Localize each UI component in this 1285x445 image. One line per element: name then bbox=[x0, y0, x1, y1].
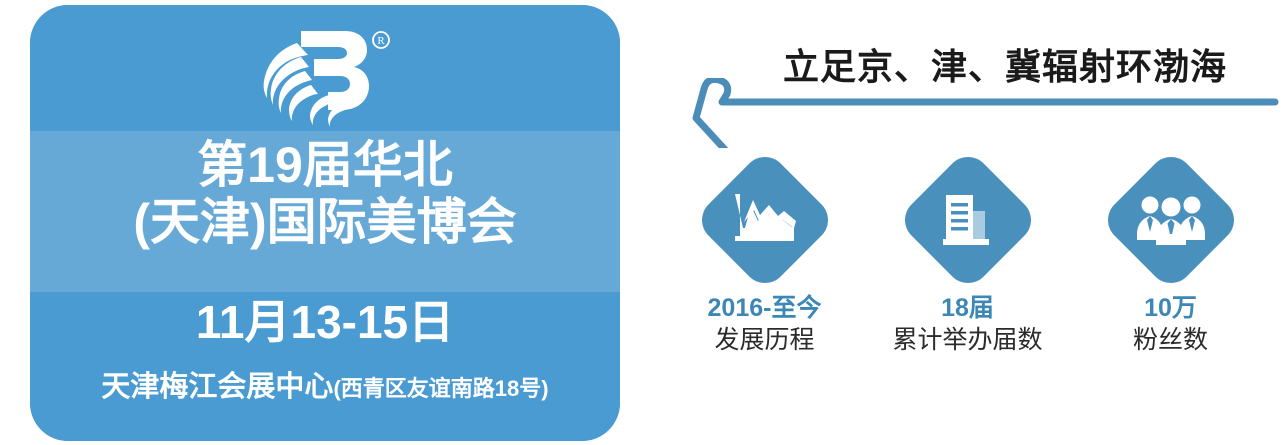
stat-label: 累计举办届数 bbox=[892, 325, 1042, 355]
stat-item[interactable]: 10万 粉丝数 bbox=[1078, 158, 1263, 355]
event-info-card: R 第19届华北 (天津)国际美博会 11月13-15日 天津梅江会展中心(西青… bbox=[30, 5, 620, 441]
stats-row: 2016-至今 发展历程 bbox=[650, 158, 1285, 355]
event-venue: 天津梅江会展中心(西青区友谊南路18号) bbox=[30, 363, 620, 405]
event-date: 11月13-15日 bbox=[30, 297, 620, 348]
area-chart-icon bbox=[703, 158, 827, 282]
event-title-line-2: (天津)国际美博会 bbox=[30, 194, 620, 251]
highlights-panel: 立足京、津、冀辐射环渤海 2016-至今 发展 bbox=[650, 0, 1285, 445]
stat-value: 2016-至今 bbox=[708, 294, 822, 323]
stat-item[interactable]: 2016-至今 发展历程 bbox=[672, 158, 857, 355]
stat-icon-diamond bbox=[703, 158, 827, 282]
three-people-icon bbox=[1109, 158, 1233, 282]
document-building-icon bbox=[906, 158, 1030, 282]
stat-icon-diamond bbox=[1109, 158, 1233, 282]
stat-label: 发展历程 bbox=[714, 325, 814, 355]
stat-label: 粉丝数 bbox=[1133, 325, 1208, 355]
stat-value: 10万 bbox=[1144, 294, 1197, 323]
stat-icon-diamond bbox=[906, 158, 1030, 282]
stat-item[interactable]: 18届 累计举办届数 bbox=[875, 158, 1060, 355]
poster-canvas: R 第19届华北 (天津)国际美博会 11月13-15日 天津梅江会展中心(西青… bbox=[0, 0, 1285, 445]
event-title: 第19届华北 (天津)国际美博会 bbox=[30, 137, 620, 251]
event-venue-name: 天津梅江会展中心 bbox=[101, 371, 333, 403]
left-arrow-hook-rule-icon bbox=[670, 78, 1280, 148]
event-venue-address: (西青区友谊南路18号) bbox=[333, 376, 548, 401]
stat-value: 18届 bbox=[941, 294, 994, 323]
event-title-line-1: 第19届华北 bbox=[30, 137, 620, 194]
